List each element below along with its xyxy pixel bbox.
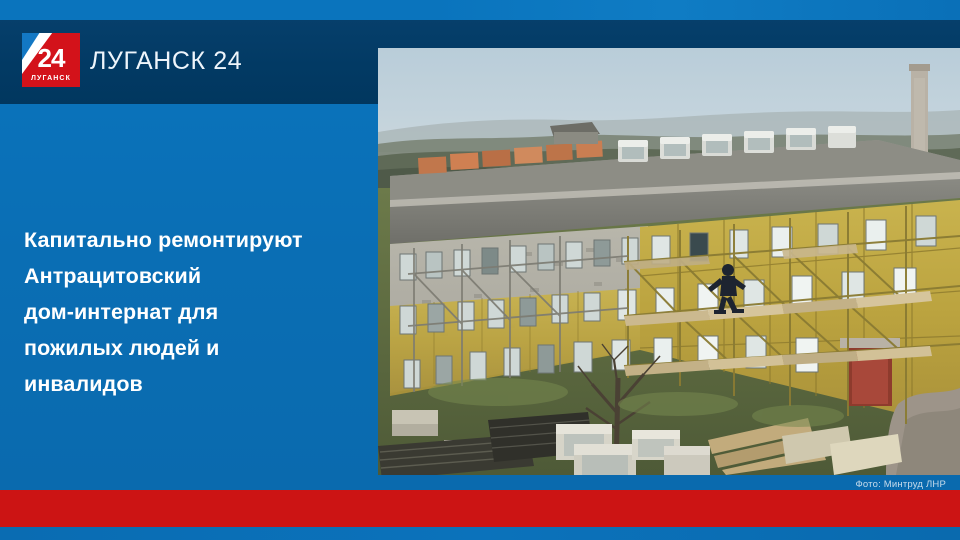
logo-red-box: 24 ЛУГАНСК	[22, 33, 80, 87]
logo-number: 24	[22, 45, 80, 71]
news-photo-illustration	[378, 48, 960, 475]
news-photo	[378, 48, 960, 475]
bottom-accent-strip	[0, 527, 960, 540]
news-lower-third-slide: 24 ЛУГАНСК ЛУГАНСК 24 Капитально ремонти…	[0, 0, 960, 540]
top-accent-strip	[0, 0, 960, 20]
channel-logo: 24 ЛУГАНСК	[22, 33, 80, 87]
headline-line: пожилых людей и	[24, 330, 354, 366]
headline: Капитально ремонтируют Антрацитовский до…	[24, 222, 354, 402]
logo-subtitle: ЛУГАНСК	[22, 75, 80, 83]
photo-credit: Фото: Минтруд ЛНР	[855, 479, 946, 490]
bottom-red-bar	[0, 490, 960, 527]
channel-name: ЛУГАНСК 24	[90, 46, 242, 76]
headline-line: Капитально ремонтируют	[24, 222, 354, 258]
headline-line: Антрацитовский	[24, 258, 354, 294]
headline-line: дом-интернат для	[24, 294, 354, 330]
headline-line: инвалидов	[24, 366, 354, 402]
